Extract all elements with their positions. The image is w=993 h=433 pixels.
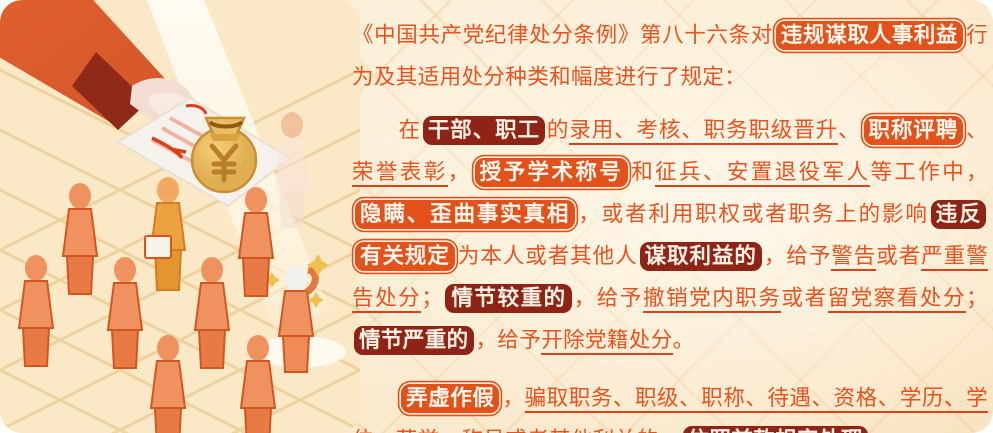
text-run: 和	[631, 160, 655, 184]
paragraph-3: 弄虚作假，骗取职务、职级、职称、待遇、资格、学历、学位、荣誉、称号或者其他利益的…	[352, 377, 988, 433]
badge-orange: 授予学术称号	[475, 158, 629, 187]
text-run: ；	[966, 286, 988, 310]
text-run: 的	[547, 118, 569, 142]
text-run: 或者	[876, 244, 921, 268]
illustration-panel	[0, 0, 360, 433]
badge-dark: 干部、职工	[423, 116, 545, 145]
text-run: 、	[838, 118, 860, 142]
paragraph-1: 《中国共产党纪律处分条例》第八十六条对违规谋取人事利益行为及其适用处分种类和幅度…	[352, 14, 988, 98]
text-run: 《中国共产党纪律处分条例》第八十六条对	[352, 23, 773, 47]
underlined-run: 警告	[831, 244, 876, 271]
underlined-run: 征兵、安置退役军人	[655, 160, 870, 187]
text-run: 为本人或者其他人	[458, 244, 638, 268]
underlined-run: 开除党籍处分	[541, 328, 672, 355]
badge-orange: 职称评聘	[864, 116, 964, 145]
infographic-card: 《中国共产党纪律处分条例》第八十六条对违规谋取人事利益行为及其适用处分种类和幅度…	[0, 0, 993, 433]
badge-dark: 谋取利益的	[640, 242, 762, 271]
text-run: ，	[502, 386, 524, 410]
text-run: ，给予	[574, 286, 643, 310]
underlined-run: 录用、考核、职务职级晋升	[569, 118, 838, 145]
text-run: 。	[870, 428, 892, 433]
text-run: 。	[673, 328, 695, 352]
badge-dark: 依照前款规定处理	[683, 426, 868, 433]
text-run: 或者	[781, 286, 827, 310]
badge-orange: 有关规定	[355, 242, 455, 271]
badge-orange: 弄虚作假	[401, 384, 499, 413]
badge-orange: 违规谋取人事利益	[776, 21, 963, 50]
text-run: ，或者利用职权或者职务上的影响	[578, 202, 928, 226]
text-run: ，给予	[476, 328, 542, 352]
text-run: ，	[448, 160, 472, 184]
underlined-run: 荣誉表彰	[352, 160, 448, 187]
underlined-run: 留党察看处分	[828, 286, 966, 313]
text-run: ，	[659, 428, 681, 433]
text-run: ；	[421, 286, 443, 310]
text-run: 在	[398, 118, 421, 142]
badge-dark: 违反	[931, 200, 986, 229]
text-run: 、	[966, 118, 988, 142]
badge-orange: 隐瞒、歪曲事实真相	[355, 200, 575, 229]
text-run: ，给予	[764, 244, 831, 268]
text-run: 等工作中，	[870, 160, 988, 184]
badge-dark: 情节较重的	[445, 284, 572, 313]
article-text: 《中国共产党纪律处分条例》第八十六条对违规谋取人事利益行为及其适用处分种类和幅度…	[352, 8, 988, 428]
paragraph-2: 在干部、职工的录用、考核、职务职级晋升、职称评聘、荣誉表彰，授予学术称号和征兵、…	[352, 109, 988, 361]
badge-dark: 情节严重的	[354, 326, 474, 355]
underlined-run: 撤销党内职务	[643, 286, 781, 313]
